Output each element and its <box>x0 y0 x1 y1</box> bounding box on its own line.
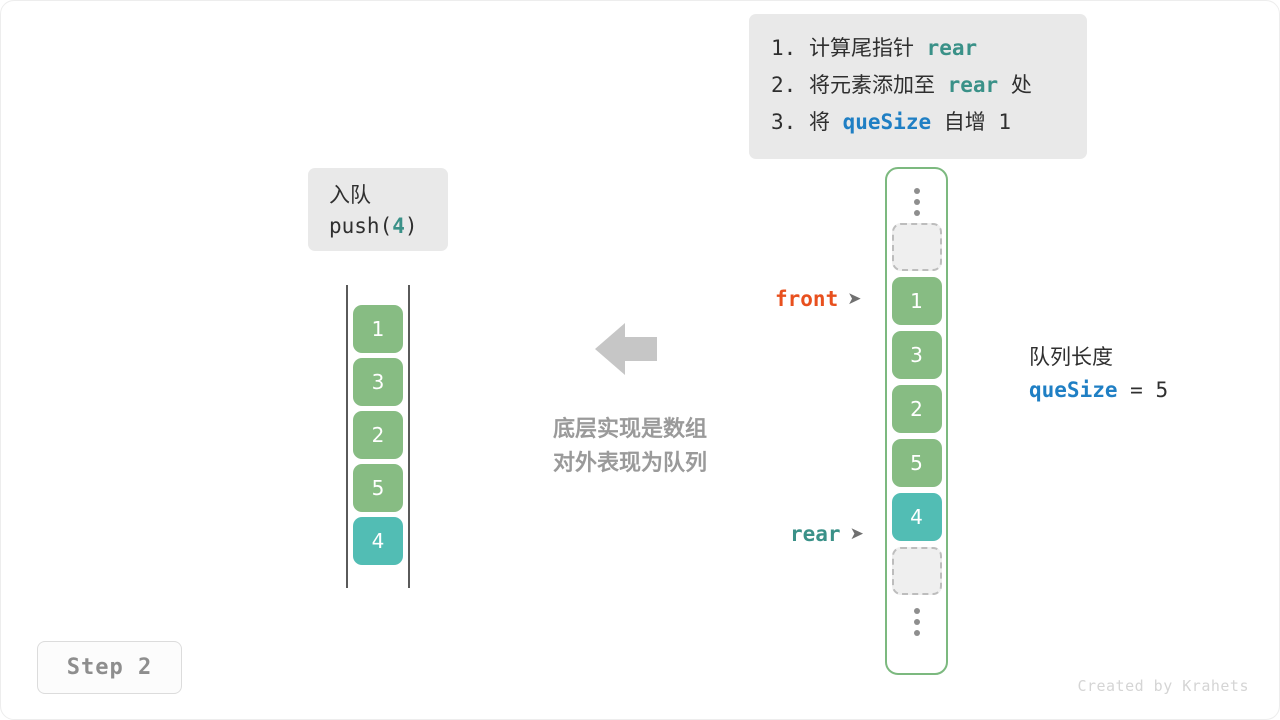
pointer-rear-label: rear <box>790 522 841 546</box>
credit-text: Created by Krahets <box>1077 677 1249 695</box>
physical-array: 1 3 2 5 4 <box>885 167 948 675</box>
caption-line-2: 对外表现为队列 <box>530 447 730 481</box>
step-badge: Step 2 <box>37 641 182 694</box>
operation-call-pre: push( <box>329 214 392 238</box>
quesize-value: 5 <box>1155 378 1168 402</box>
pointer-front-label: front <box>775 287 838 311</box>
array-cell-empty <box>892 223 942 271</box>
queue-cell-new: 4 <box>353 517 403 565</box>
instruction-line-2: 2. 将元素添加至 rear 处 <box>771 67 1065 104</box>
dot <box>914 199 920 205</box>
array-cell: 5 <box>892 439 942 487</box>
instruction-text: 将 <box>809 110 843 134</box>
array-cell: 3 <box>892 331 942 379</box>
quesize-info: 队列长度 queSize = 5 <box>1029 342 1168 407</box>
instruction-index: 1. <box>771 36 796 60</box>
quesize-variable: queSize <box>1029 378 1118 402</box>
quesize-expression: queSize = 5 <box>1029 373 1168 407</box>
array-cell-new: 4 <box>892 493 942 541</box>
array-cell-empty <box>892 547 942 595</box>
pointer-rear: rear ➤ <box>790 522 864 546</box>
pointer-arrow-icon: ➤ <box>847 291 861 308</box>
instruction-line-3: 3. 将 queSize 自增 1 <box>771 104 1065 141</box>
instruction-keyword-rear: rear <box>927 36 978 60</box>
dot <box>914 188 920 194</box>
array-cell: 2 <box>892 385 942 433</box>
instruction-text: 将元素添加至 <box>809 73 948 97</box>
logical-queue: 1 3 2 5 4 <box>346 285 410 588</box>
queue-cell: 3 <box>353 358 403 406</box>
operation-call-value: 4 <box>392 214 405 238</box>
queue-rail-right <box>408 285 410 588</box>
dot <box>914 210 920 216</box>
queue-rail-left <box>346 285 348 588</box>
quesize-title: 队列长度 <box>1029 342 1168 373</box>
arrow-left-icon <box>595 321 657 377</box>
instruction-index: 3. <box>771 110 796 134</box>
vertical-ellipsis-icon <box>914 181 920 223</box>
operation-call-post: ) <box>405 214 418 238</box>
queue-cell: 1 <box>353 305 403 353</box>
pointer-arrow-icon: ➤ <box>850 526 864 543</box>
pointer-front: front ➤ <box>775 287 861 311</box>
instruction-text: 计算尾指针 <box>809 36 927 60</box>
queue-cells: 1 3 2 5 4 <box>353 305 403 570</box>
operation-title: 入队 <box>329 180 448 210</box>
quesize-equals: = <box>1118 378 1156 402</box>
instruction-line-1: 1. 计算尾指针 rear <box>771 30 1065 67</box>
operation-label: 入队 push(4) <box>308 168 448 251</box>
operation-call: push(4) <box>329 210 448 242</box>
instruction-keyword-quesize: queSize <box>843 110 932 134</box>
dot <box>914 619 920 625</box>
instruction-text-post: 处 <box>998 73 1032 97</box>
dot <box>914 608 920 614</box>
instruction-panel: 1. 计算尾指针 rear 2. 将元素添加至 rear 处 3. 将 queS… <box>749 14 1087 159</box>
instruction-text-post: 自增 1 <box>931 110 1011 134</box>
instruction-index: 2. <box>771 73 796 97</box>
queue-cell: 2 <box>353 411 403 459</box>
center-caption: 底层实现是数组 对外表现为队列 <box>530 413 730 481</box>
array-cell: 1 <box>892 277 942 325</box>
instruction-keyword-rear: rear <box>948 73 999 97</box>
vertical-ellipsis-icon <box>914 601 920 643</box>
caption-line-1: 底层实现是数组 <box>530 413 730 447</box>
dot <box>914 630 920 636</box>
queue-cell: 5 <box>353 464 403 512</box>
diagram-canvas: 1. 计算尾指针 rear 2. 将元素添加至 rear 处 3. 将 queS… <box>0 0 1280 720</box>
